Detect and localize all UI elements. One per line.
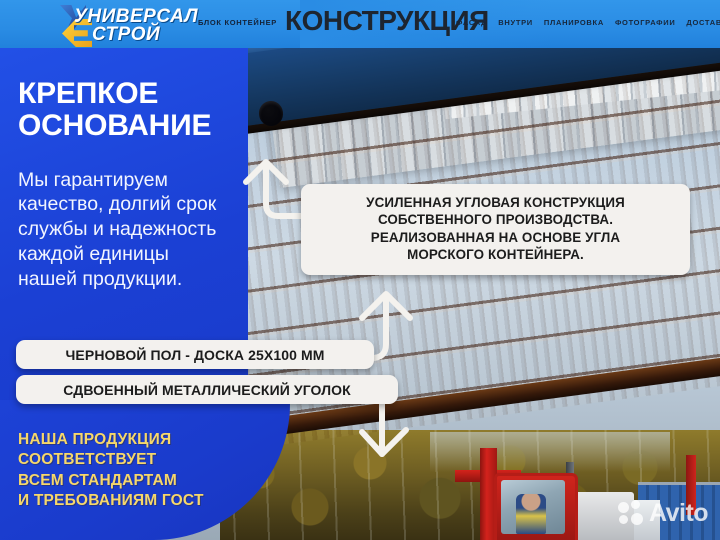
gost-line-1: НАША ПРОДУКЦИЯ bbox=[18, 430, 253, 450]
avito-wordmark: Avito bbox=[649, 501, 708, 526]
callout-main-line-4: МОРСКОГО КОНТЕЙНЕРА. bbox=[313, 246, 678, 263]
callout-main-line-2: СОБСТВЕННОГО ПРОИЗВОДСТВА. bbox=[313, 211, 678, 228]
headline-line-2: ОСНОВАНИЕ bbox=[18, 110, 268, 142]
nav-item-list: ФАСАД ВНУТРИ ПЛАНИРОВКА ФОТОГРАФИИ ДОСТА… bbox=[456, 19, 720, 27]
hero-description: Мы гарантируем качество, долгий срок слу… bbox=[18, 168, 233, 293]
gost-line-2: СООТВЕТСТВУЕТ bbox=[18, 450, 253, 470]
avito-watermark: Avito bbox=[618, 500, 708, 526]
callout-metal-angle: СДВОЕННЫЙ МЕТАЛЛИЧЕСКИЙ УГОЛОК bbox=[16, 375, 398, 404]
callout-main: УСИЛЕННАЯ УГЛОВАЯ КОНСТРУКЦИЯ СОБСТВЕННО… bbox=[301, 184, 690, 275]
nav-pre-label: БЛОК КОНТЕЙНЕР bbox=[198, 19, 277, 27]
nav-item-fotografii[interactable]: ФОТОГРАФИИ bbox=[615, 19, 675, 27]
promo-banner: КРЕПКОЕ ОСНОВАНИЕ Мы гарантируем качеств… bbox=[0, 0, 720, 540]
header-nav: БЛОК КОНТЕЙНЕР КОНСТРУКЦИЯ ФАСАД ВНУТРИ … bbox=[0, 0, 720, 48]
gost-line-4: И ТРЕБОВАНИЯМ ГОСТ bbox=[18, 491, 253, 511]
callout-main-line-3: РЕАЛИЗОВАННАЯ НА ОСНОВЕ УГЛА bbox=[313, 229, 678, 246]
gost-statement: НАША ПРОДУКЦИЯ СООТВЕТСТВУЕТ ВСЕМ СТАНДА… bbox=[18, 430, 253, 512]
callout-main-line-1: УСИЛЕННАЯ УГЛОВАЯ КОНСТРУКЦИЯ bbox=[313, 194, 678, 211]
nav-item-vnutri[interactable]: ВНУТРИ bbox=[498, 19, 533, 27]
nav-item-planirovka[interactable]: ПЛАНИРОВКА bbox=[544, 19, 604, 27]
nav-item-fasad[interactable]: ФАСАД bbox=[456, 19, 487, 27]
nav-item-dostavka[interactable]: ДОСТАВКА bbox=[686, 19, 720, 27]
headline-line-1: КРЕПКОЕ bbox=[18, 78, 268, 110]
gost-line-3: ВСЕМ СТАНДАРТАМ bbox=[18, 471, 253, 491]
avito-logo-icon bbox=[618, 500, 644, 526]
callout-subfloor: ЧЕРНОВОЙ ПОЛ - ДОСКА 25Х100 ММ bbox=[16, 340, 374, 369]
loader-operator bbox=[516, 494, 546, 534]
page-title: КРЕПКОЕ ОСНОВАНИЕ bbox=[18, 78, 268, 143]
